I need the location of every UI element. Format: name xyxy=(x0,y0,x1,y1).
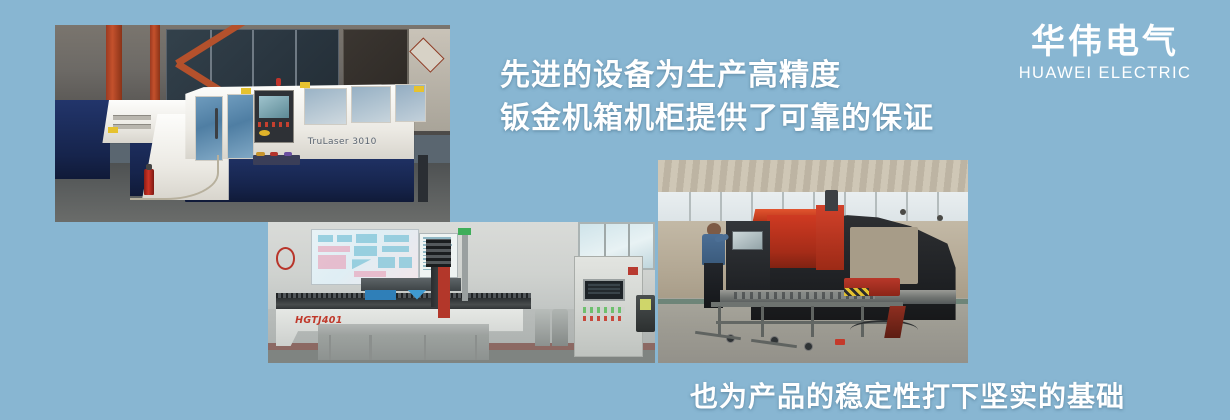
press-red-housing-a xyxy=(767,215,817,268)
hose-pack xyxy=(438,267,450,318)
machine-label-hgtj: HGTJ401 xyxy=(295,315,343,326)
cable-reel xyxy=(276,247,295,270)
door-handle xyxy=(215,108,218,140)
tagline-text: 也为产品的稳定性打下坚实的基础 xyxy=(690,375,1125,415)
headline-text: 先进的设备为生产高精度 钣金机箱机柜提供了可靠的保证 xyxy=(500,55,934,140)
press-exhaust-stack xyxy=(825,190,837,210)
machine-base-left xyxy=(55,100,110,179)
machine-label-trulaser: TruLaser 3010 xyxy=(308,137,377,147)
punch-scene xyxy=(658,160,968,363)
warning-label-4 xyxy=(108,127,118,133)
ceiling-lamp-2 xyxy=(900,209,906,215)
sheet-clamp-assembly xyxy=(844,278,900,296)
signal-tower xyxy=(462,228,468,301)
control-screen xyxy=(259,96,289,117)
enclosure-door-window-1 xyxy=(195,96,223,161)
cabinet-red-buttons xyxy=(583,316,625,321)
photo-laser-cutting-machine: TruLaser 3010 xyxy=(55,25,450,222)
laser-scene xyxy=(55,25,450,222)
cabinet-green-buttons xyxy=(583,307,625,313)
handheld-pendant xyxy=(636,295,655,332)
enclosure-door-window-2 xyxy=(227,94,255,159)
cabinet-screen xyxy=(583,279,625,301)
wall-poster-chart xyxy=(311,229,419,285)
floor-marker xyxy=(835,339,845,345)
work-table xyxy=(318,324,488,361)
tool-tray xyxy=(253,155,300,165)
emergency-stop-button xyxy=(259,130,270,136)
company-logo: 华伟电气 HUAWEI ELECTRIC xyxy=(1014,24,1196,83)
hgtj-scene xyxy=(268,222,655,363)
photo-cnc-punch-press xyxy=(658,160,968,363)
ceiling-lamp-3 xyxy=(937,215,943,221)
control-cabinet xyxy=(574,256,644,358)
logo-chinese-name: 华伟电气 xyxy=(1014,24,1196,61)
warning-label-3 xyxy=(414,86,424,92)
warning-label-1 xyxy=(241,88,251,94)
press-red-housing-b xyxy=(816,205,844,270)
rear-post xyxy=(418,155,428,202)
headline-line-2: 钣金机箱机柜提供了可靠的保证 xyxy=(500,98,934,141)
warning-label-2 xyxy=(300,82,310,88)
operator-control-panel xyxy=(254,90,294,143)
control-buttons xyxy=(258,122,290,127)
blue-module xyxy=(365,290,396,300)
cutting-bed xyxy=(276,298,531,309)
table-caster-3 xyxy=(804,342,813,351)
gas-bottle-2 xyxy=(552,309,567,346)
enclosure-window-2 xyxy=(351,86,391,123)
headline-line-1: 先进的设备为生产高精度 xyxy=(500,55,934,98)
enclosure-window-1 xyxy=(304,88,347,125)
gas-bottle-1 xyxy=(535,309,550,346)
red-cross-brace xyxy=(177,31,256,90)
logo-english-name: HUAWEI ELECTRIC xyxy=(1014,64,1196,83)
press-c-throat-opening xyxy=(850,227,918,284)
photo-cnc-cutting-machine: HGTJ401 xyxy=(268,222,655,363)
fire-extinguisher xyxy=(144,169,154,195)
press-control-screen xyxy=(732,231,762,250)
cabinet-red-label xyxy=(628,267,639,275)
company-banner: TruLaser 3010 xyxy=(0,0,1230,420)
signal-lamp xyxy=(276,78,281,86)
